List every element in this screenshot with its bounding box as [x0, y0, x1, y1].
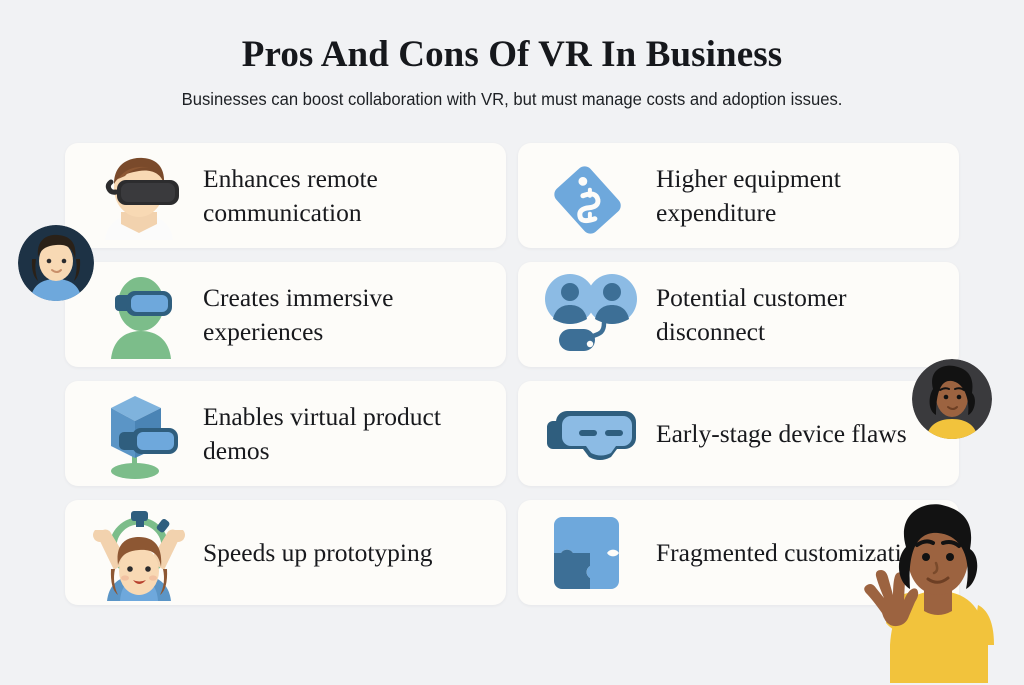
cube-goggles-icon	[83, 388, 195, 480]
card-con-2[interactable]: Potential customer disconnect	[518, 262, 959, 367]
puzzle-pieces-icon	[536, 507, 648, 599]
avatar-dark-hair-blue-shirt-icon	[18, 225, 94, 301]
card-pro-2[interactable]: Creates immersive experiences	[65, 262, 506, 367]
card-pro-1[interactable]: Enhances remote communication	[65, 143, 506, 248]
price-tag-dollar-icon	[536, 150, 648, 242]
infographic-canvas: Pros And Cons Of VR In Business Business…	[0, 0, 1024, 683]
card-con-3[interactable]: Early-stage device flaws	[518, 381, 959, 486]
two-users-unplugged-icon	[536, 269, 648, 361]
stopwatch-cheer-icon	[83, 507, 195, 599]
vr-goggles-icon	[536, 388, 648, 480]
pros-cons-grid: Enhances remote communication	[65, 143, 959, 605]
page-subtitle: Businesses can boost collaboration with …	[26, 89, 999, 110]
card-pro-3[interactable]: Enables virtual product demos	[65, 381, 506, 486]
card-label: Enhances remote communication	[195, 162, 506, 229]
card-pro-4[interactable]: Speeds up prototyping	[65, 500, 506, 605]
card-label: Higher equipment expenditure	[648, 162, 959, 229]
vr-headset-person-icon	[83, 150, 195, 242]
card-label: Speeds up prototyping	[195, 536, 443, 570]
card-con-1[interactable]: Higher equipment expenditure	[518, 143, 959, 248]
card-label: Potential customer disconnect	[648, 281, 959, 348]
avatar-goggles-icon	[83, 269, 195, 361]
card-label: Enables virtual product demos	[195, 400, 506, 467]
waving-woman-illustration	[838, 495, 1024, 685]
card-label: Creates immersive experiences	[195, 281, 506, 348]
avatar-curly-hair-yellow-shirt-icon	[912, 359, 992, 439]
page-title: Pros And Cons Of VR In Business	[0, 34, 1024, 77]
card-label: Early-stage device flaws	[648, 417, 917, 451]
header: Pros And Cons Of VR In Business Business…	[0, 34, 1024, 110]
